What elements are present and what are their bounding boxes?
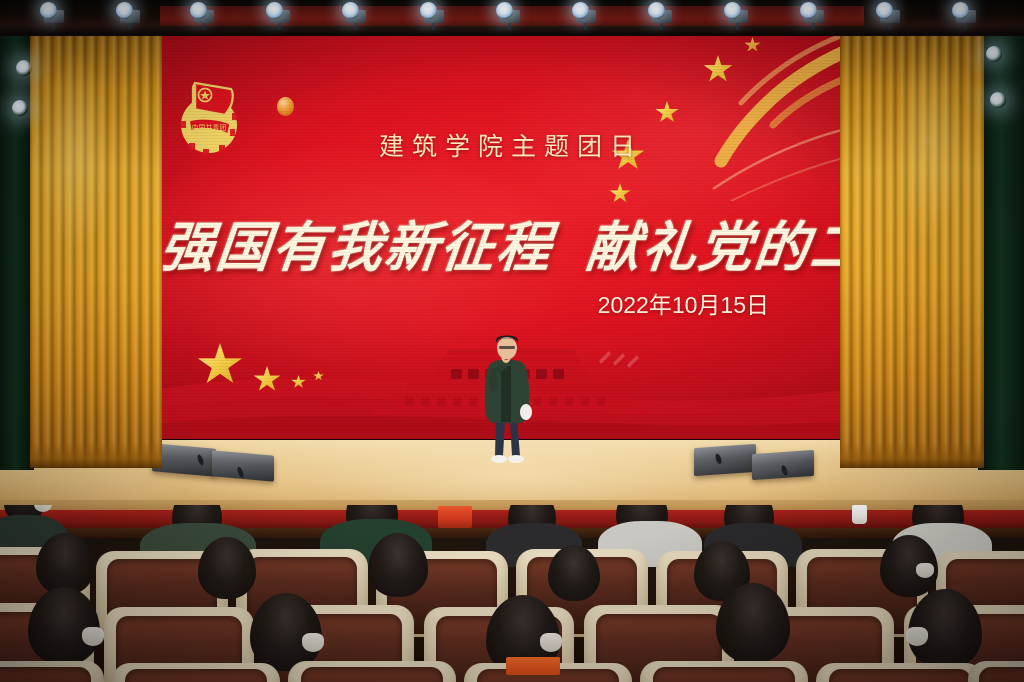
red-item-on-ledge: [438, 506, 472, 528]
truss-bar: [0, 26, 1024, 35]
audience-area: [0, 505, 1024, 682]
led-headline-right: 献礼党的二十大: [583, 218, 861, 278]
star-decoration-7: [253, 366, 281, 393]
star-decoration-9: [313, 371, 324, 381]
side-lamp-left-1: [16, 60, 32, 76]
side-lamp-left-2: [12, 100, 28, 116]
star-decoration-4: [609, 183, 631, 204]
led-date: 2022年10月15日: [598, 286, 769, 320]
stage-light-1: [40, 2, 66, 24]
led-headline: 强国有我新征程献礼党的二十大: [161, 203, 861, 282]
lanyard: [506, 657, 560, 675]
theatre-seat[interactable]: [112, 663, 280, 682]
auditorium-scene: 中国共青团: [0, 0, 1024, 682]
stage-monitor-right-a: [694, 444, 756, 476]
stage-light-5: [342, 2, 368, 24]
led-headline-left: 强国有我新征程: [161, 218, 556, 278]
presenter: [470, 330, 544, 470]
audience-head: [198, 537, 256, 599]
theatre-seat[interactable]: [968, 661, 1024, 682]
stage-curtain-right: [840, 16, 984, 468]
stage-light-6: [420, 2, 446, 24]
theatre-seat[interactable]: [640, 661, 808, 682]
stage-curtain-dark-right: [978, 0, 1024, 470]
audience-head: [548, 545, 600, 601]
theatre-seat[interactable]: [0, 661, 104, 682]
star-decoration-8: [291, 375, 306, 389]
side-lamp-right-1: [986, 46, 1002, 62]
stage-light-11: [800, 2, 826, 24]
stage-light-2: [116, 2, 142, 24]
stage-curtain-left: [30, 16, 162, 468]
stage-light-7: [496, 2, 522, 24]
stage-light-12: [876, 2, 902, 24]
stage-light-9: [648, 2, 674, 24]
stage-light-13: [952, 2, 978, 24]
face-mask: [302, 633, 324, 652]
stage-light-10: [724, 2, 750, 24]
side-lamp-right-2: [990, 92, 1006, 108]
star-decoration-5: [744, 37, 761, 53]
stage-light-3: [190, 2, 216, 24]
stage-monitor-left-b: [212, 450, 274, 481]
led-subtitle: 建筑学院主题团日: [161, 127, 861, 163]
gold-ribbon-decoration: [581, 31, 861, 201]
face-mask: [82, 627, 104, 646]
paper-cup: [852, 505, 867, 524]
orange-sphere-decoration: [277, 97, 294, 116]
stage-light-8: [572, 2, 598, 24]
face-mask: [540, 633, 562, 652]
star-decoration-2: [655, 101, 679, 124]
audience-head: [36, 533, 94, 595]
face-mask: [906, 627, 928, 646]
star-decoration-6: [197, 343, 243, 387]
face-mask: [916, 563, 934, 578]
star-decoration-1: [703, 55, 733, 84]
stage-light-4: [266, 2, 292, 24]
stage-monitor-right-b: [752, 450, 814, 480]
theatre-seat[interactable]: [816, 663, 984, 682]
theatre-seat[interactable]: [288, 661, 456, 682]
